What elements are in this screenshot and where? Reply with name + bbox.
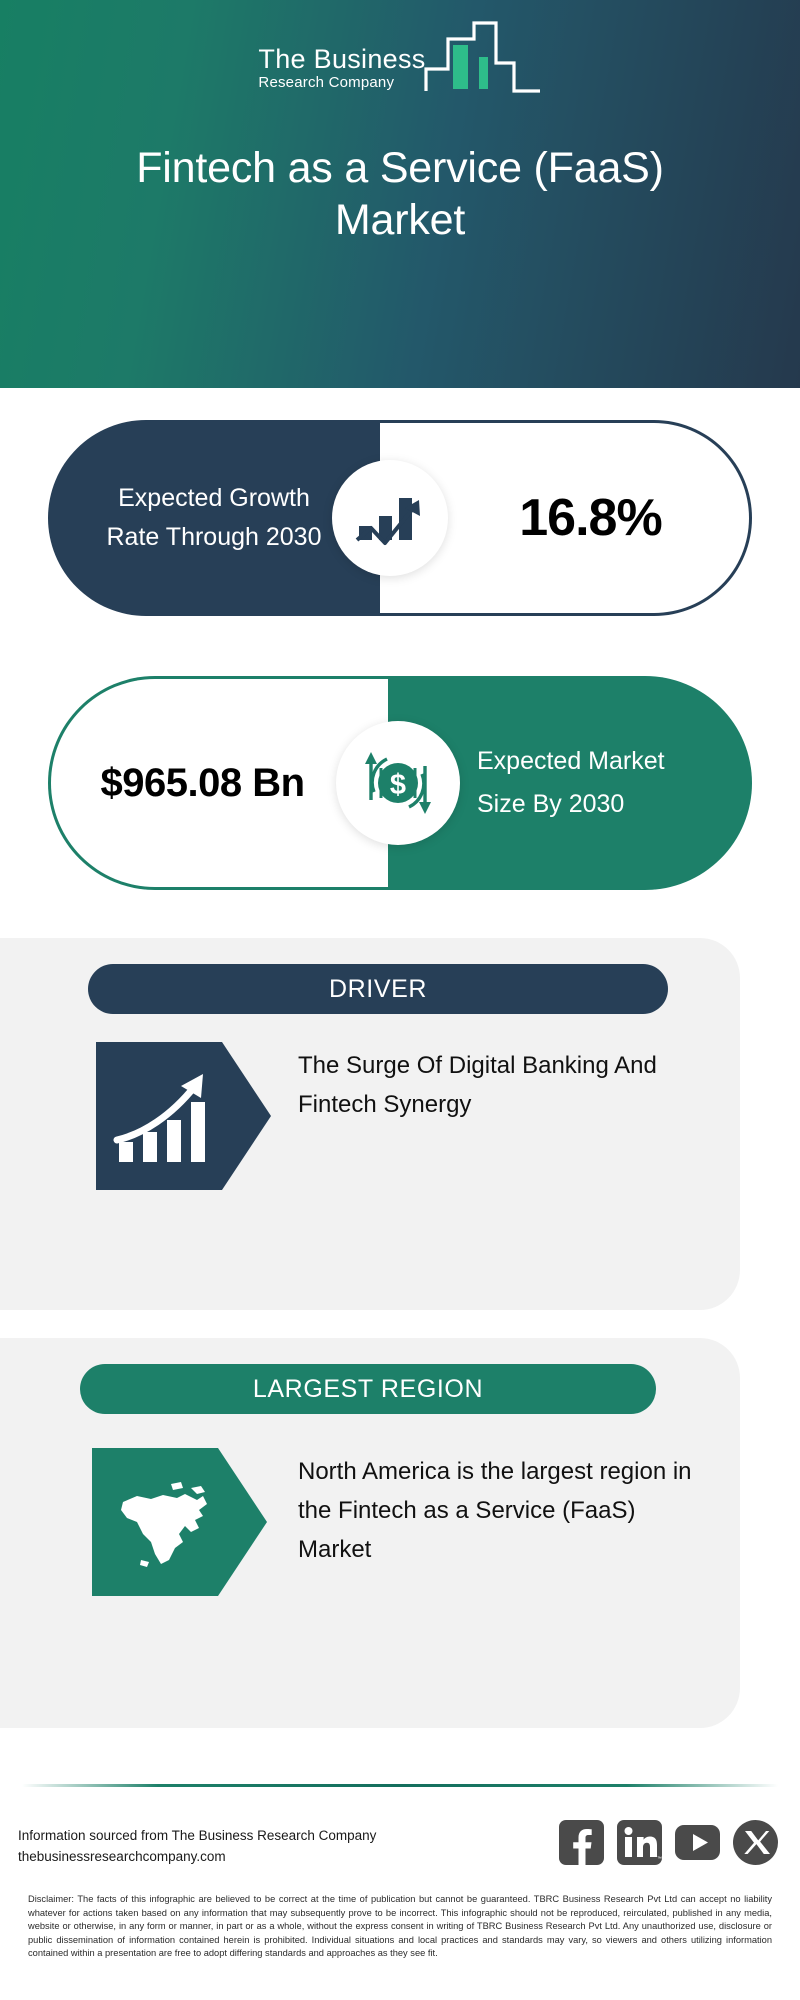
company-logo: The Business Research Company	[258, 22, 541, 100]
logo-line-primary: The Business	[258, 45, 425, 73]
driver-heading-pill: DRIVER	[88, 964, 668, 1014]
logo-wordmark: The Business Research Company	[258, 45, 425, 100]
dollar-cycle-icon: $	[336, 721, 460, 845]
svg-text:™: ™	[657, 1856, 662, 1862]
source-attribution: Information sourced from The Business Re…	[18, 1825, 438, 1867]
rising-bar-chart-icon	[96, 1042, 271, 1190]
driver-description: The Surge Of Digital Banking And Fintech…	[298, 1046, 678, 1124]
source-line-2[interactable]: thebusinessresearchcompany.com	[18, 1846, 438, 1867]
largest-region-panel: LARGEST REGION North America is the larg…	[0, 1338, 740, 1728]
facebook-icon[interactable]	[559, 1820, 604, 1865]
logo-line-secondary: Research Company	[258, 74, 394, 92]
source-line-1: Information sourced from The Business Re…	[18, 1825, 438, 1846]
largest-region-heading-label: LARGEST REGION	[253, 1375, 483, 1404]
footer-divider	[22, 1784, 778, 1787]
disclaimer-text: Disclaimer: The facts of this infographi…	[28, 1893, 772, 1961]
social-links: ™	[559, 1820, 778, 1865]
largest-region-heading-pill: LARGEST REGION	[80, 1364, 656, 1414]
driver-panel: DRIVER The Surge Of Digital Banking And …	[0, 938, 740, 1310]
linkedin-icon[interactable]: ™	[617, 1820, 662, 1865]
bar-chart-logo-mark	[422, 17, 542, 100]
growth-chart-icon	[332, 460, 448, 576]
market-size-label: Expected Market Size By 2030	[477, 740, 707, 826]
expected-growth-rate-card: Expected Growth Rate Through 2030 16.8%	[48, 420, 752, 616]
page-title: Fintech as a Service (FaaS) Market	[90, 142, 710, 246]
market-size-value: $965.08 Bn	[95, 758, 310, 808]
growth-rate-value: 16.8%	[519, 488, 661, 548]
growth-rate-label: Expected Growth Rate Through 2030	[89, 479, 339, 557]
largest-region-description: North America is the largest region in t…	[298, 1452, 698, 1569]
driver-heading-label: DRIVER	[329, 975, 427, 1004]
north-america-map-icon	[92, 1448, 267, 1596]
expected-market-size-card: $965.08 Bn Expected Market Size By 2030 …	[48, 676, 752, 890]
youtube-icon[interactable]	[675, 1820, 720, 1865]
infographic-header: The Business Research Company Fintech as…	[0, 0, 800, 388]
growth-rate-label-panel: Expected Growth Rate Through 2030	[48, 420, 380, 616]
svg-text:$: $	[390, 769, 406, 801]
x-twitter-icon[interactable]	[733, 1820, 778, 1865]
